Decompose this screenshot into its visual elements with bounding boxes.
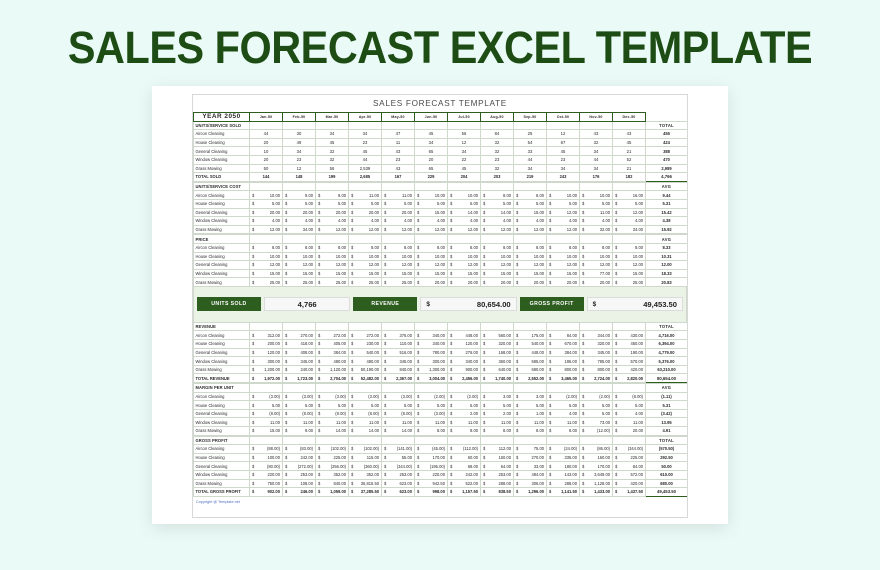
data-cell: $4.00 — [580, 217, 613, 226]
data-cell: $384.00 — [547, 348, 580, 357]
section-filler — [580, 384, 613, 393]
data-cell: $10.00 — [415, 252, 448, 261]
data-cell: 34 — [415, 138, 448, 147]
totals-cell: $2,367.00 — [382, 374, 415, 383]
data-cell: $8.00 — [481, 243, 514, 252]
section-filler — [283, 384, 316, 393]
data-cell: $300.00 — [415, 357, 448, 366]
data-cell: $11.00 — [547, 418, 580, 427]
data-cell: $12.00 — [613, 261, 646, 270]
data-cell: $344.00 — [580, 331, 613, 340]
data-cell: 43 — [382, 147, 415, 156]
data-cell: $5.00 — [514, 199, 547, 208]
data-cell: 44 — [514, 155, 547, 164]
row-label: General Cleaning — [194, 348, 250, 357]
section-filler — [448, 436, 481, 445]
data-cell: 47 — [382, 130, 415, 139]
data-cell: $11.00 — [382, 191, 415, 200]
totals-cell: $1,437.50 — [613, 488, 646, 497]
month-header-3: Apr-50 — [349, 113, 382, 122]
data-cell: $15.00 — [514, 208, 547, 217]
data-cell: $75.00 — [514, 445, 547, 454]
data-cell: $540.00 — [514, 340, 547, 349]
data-cell: $20.00 — [415, 278, 448, 287]
data-cell: $8.00 — [547, 243, 580, 252]
data-cell: $108.00 — [283, 479, 316, 488]
data-cell: $4.00 — [349, 217, 382, 226]
totals-cell: $2,724.00 — [580, 374, 613, 383]
section-filler — [415, 384, 448, 393]
data-cell: $4.00 — [250, 217, 283, 226]
data-cell: $(2.00) — [415, 392, 448, 401]
data-cell: 44 — [580, 155, 613, 164]
section-filler — [547, 322, 580, 331]
row-label: General Cleaning — [194, 208, 250, 217]
data-cell: $3,649.00 — [580, 470, 613, 479]
data-cell: $12.00 — [481, 225, 514, 234]
data-cell: $8.00 — [613, 243, 646, 252]
row-label: House Cleaning — [194, 453, 250, 462]
section-filler — [448, 121, 481, 130]
section-filler — [382, 121, 415, 130]
section-filler — [580, 235, 613, 244]
data-cell: $5.00 — [250, 401, 283, 410]
data-cell: $230.00 — [349, 340, 382, 349]
data-cell: 32 — [481, 138, 514, 147]
data-cell: $11.00 — [316, 418, 349, 427]
section-filler — [382, 322, 415, 331]
page-title: SALES FORECAST EXCEL TEMPLATE — [35, 22, 845, 74]
data-cell: $12.00 — [547, 208, 580, 217]
month-header-5: Jun-50 — [415, 113, 448, 122]
data-cell: $(112.00) — [448, 445, 481, 454]
data-cell: $5.00 — [580, 409, 613, 418]
data-cell: $(272.00) — [283, 462, 316, 471]
row-label: Aircon Cleaning — [194, 191, 250, 200]
totals-cell: $1,296.00 — [514, 488, 547, 497]
section-filler — [316, 436, 349, 445]
month-header-10: Nov-50 — [580, 113, 613, 122]
table-row: Aircon Cleaning$(3.00)$(3.00)$(3.00)$(3.… — [194, 392, 688, 401]
data-cell: $11.00 — [481, 418, 514, 427]
data-cell: $20.00 — [448, 278, 481, 287]
data-cell: 44 — [349, 155, 382, 164]
data-cell: $352.00 — [316, 470, 349, 479]
currency-symbol: $ — [426, 301, 430, 308]
data-cell: $12.00 — [580, 261, 613, 270]
section-title: PRICE — [194, 235, 250, 244]
section-header-row: MARGIN PER UNITAVG — [194, 384, 688, 393]
section-filler — [580, 436, 613, 445]
data-cell: 45 — [547, 147, 580, 156]
data-cell: $14.00 — [382, 427, 415, 436]
currency-symbol: $ — [593, 301, 597, 308]
row-total: 13.95 — [646, 418, 688, 427]
data-cell: 33 — [514, 147, 547, 156]
data-cell: $340.00 — [415, 331, 448, 340]
data-cell: $15.00 — [415, 269, 448, 278]
section-filler — [316, 235, 349, 244]
template-preview-card: SALES FORECAST TEMPLATE YEAR 2050Jan-50F… — [152, 86, 728, 524]
data-cell: $(2.00) — [547, 392, 580, 401]
data-cell: $253.00 — [382, 470, 415, 479]
data-cell: $20.00 — [481, 278, 514, 287]
section-filler — [613, 235, 646, 244]
data-cell: $4.00 — [316, 217, 349, 226]
section-filler — [415, 121, 448, 130]
data-cell: $10.00 — [382, 252, 415, 261]
data-cell: $14.00 — [448, 208, 481, 217]
data-cell: $11.00 — [580, 208, 613, 217]
section-filler — [283, 182, 316, 191]
row-label: Window Cleaning — [194, 269, 250, 278]
row-total: 455 — [646, 130, 688, 139]
row-label: Aircon Cleaning — [194, 331, 250, 340]
data-cell: $60.00 — [448, 453, 481, 462]
data-cell: 34 — [547, 164, 580, 173]
row-label: Grass Mowing — [194, 164, 250, 173]
data-cell: $220.00 — [415, 470, 448, 479]
totals-cell: $52,482.00 — [349, 374, 382, 383]
data-cell: $572.00 — [613, 470, 646, 479]
row-total: 388 — [646, 147, 688, 156]
section-filler — [250, 182, 283, 191]
units-sold-chip: UNITS SOLD — [197, 297, 261, 311]
data-cell: $408.00 — [283, 348, 316, 357]
row-total: 20.83 — [646, 278, 688, 287]
data-cell: $12.00 — [250, 261, 283, 270]
sheet-table: MARGIN PER UNITAVGAircon Cleaning$(3.00)… — [193, 383, 688, 436]
data-cell: $12.00 — [415, 261, 448, 270]
data-cell: $10.00 — [448, 191, 481, 200]
data-cell: $10.00 — [316, 252, 349, 261]
data-cell: $12.00 — [382, 261, 415, 270]
data-cell: $225.00 — [613, 453, 646, 462]
section-title: GROSS PROFIT — [194, 436, 250, 445]
section-filler — [613, 322, 646, 331]
data-cell: $5.00 — [316, 199, 349, 208]
data-cell: $320.00 — [580, 340, 613, 349]
section-right-header: AVG — [646, 182, 688, 191]
section-filler — [514, 121, 547, 130]
data-cell: $143.00 — [547, 470, 580, 479]
totals-cell: $37,285.50 — [349, 488, 382, 497]
data-cell: $8.00 — [481, 427, 514, 436]
data-cell: $8.00 — [514, 427, 547, 436]
data-cell: $220.00 — [250, 470, 283, 479]
data-cell: $418.00 — [283, 340, 316, 349]
data-cell: $36,815.50 — [349, 479, 382, 488]
data-cell: $276.00 — [448, 348, 481, 357]
data-cell: $10.00 — [250, 191, 283, 200]
data-cell: 10 — [250, 147, 283, 156]
data-cell: 84 — [481, 130, 514, 139]
data-cell: $11.00 — [250, 418, 283, 427]
data-cell: $20.00 — [316, 208, 349, 217]
row-total: 470 — [646, 155, 688, 164]
data-cell: $345.00 — [580, 348, 613, 357]
revenue-value: $80,654.00 — [420, 297, 516, 311]
data-cell: $376.00 — [382, 331, 415, 340]
data-cell: $942.50 — [415, 479, 448, 488]
data-cell: $340.00 — [415, 340, 448, 349]
revenue-chip: REVENUE — [353, 297, 417, 311]
section-right-header: TOTAL — [646, 322, 688, 331]
table-row: Window Cleaning$15.00$15.00$15.00$15.00$… — [194, 269, 688, 278]
data-cell: $5.00 — [283, 401, 316, 410]
data-cell: $(102.00) — [349, 445, 382, 454]
data-cell: $750.00 — [250, 479, 283, 488]
data-cell: $(12.00) — [580, 427, 613, 436]
sheet-table: YEAR 2050Jan-50Feb-50Mar-50Apr-50May-50J… — [193, 112, 688, 182]
grand-total: 80,654.00 — [646, 374, 688, 383]
data-cell: $8.00 — [349, 243, 382, 252]
data-cell: $10.00 — [580, 191, 613, 200]
data-cell: 34 — [580, 147, 613, 156]
totals-cell: $1,157.50 — [448, 488, 481, 497]
totals-cell: 148 — [283, 173, 316, 182]
data-cell: $5.00 — [448, 199, 481, 208]
section-header-row: UNITS/SERVICE COSTAVG — [194, 182, 688, 191]
copyright-footer: Copyright @ Template.net — [193, 497, 687, 504]
section-filler — [382, 436, 415, 445]
data-cell: $15.00 — [613, 269, 646, 278]
data-cell: $15.00 — [283, 269, 316, 278]
data-cell: $77.00 — [580, 269, 613, 278]
data-cell: $4.00 — [415, 217, 448, 226]
sheet-title: SALES FORECAST TEMPLATE — [193, 95, 687, 112]
data-cell: $5.00 — [580, 401, 613, 410]
data-cell: $25.00 — [283, 278, 316, 287]
data-cell: $10.00 — [547, 252, 580, 261]
data-cell: $12.00 — [547, 261, 580, 270]
data-cell: $(83.00) — [283, 445, 316, 454]
data-cell: $5.00 — [613, 401, 646, 410]
data-cell: 67 — [547, 138, 580, 147]
table-row: Window Cleaning$220.00$253.00$352.00$352… — [194, 470, 688, 479]
table-row: Grass Mowing$25.00$25.00$25.00$25.00$25.… — [194, 278, 688, 287]
data-cell: $4.00 — [613, 409, 646, 418]
row-label: General Cleaning — [194, 261, 250, 270]
section-filler — [349, 436, 382, 445]
section-filler — [481, 235, 514, 244]
section-title: UNITS/SERVICE SOLD — [194, 121, 250, 130]
data-cell: 20 — [250, 138, 283, 147]
data-cell: $(8.00) — [382, 409, 415, 418]
data-cell: $50,190.00 — [349, 365, 382, 374]
data-cell: $(3.00) — [382, 392, 415, 401]
data-cell: $170.00 — [580, 462, 613, 471]
data-cell: $10.00 — [547, 191, 580, 200]
row-total: 2,989 — [646, 164, 688, 173]
data-cell: $(2.00) — [580, 392, 613, 401]
gross-profit-value: $49,453.50 — [587, 297, 683, 311]
totals-cell: $623.00 — [382, 488, 415, 497]
data-cell: $540.00 — [349, 348, 382, 357]
table-row: General Cleaning$(80.00)$(272.00)$(256.0… — [194, 462, 688, 471]
data-cell: $10.00 — [415, 191, 448, 200]
data-cell: $640.00 — [481, 365, 514, 374]
row-total: 9.44 — [646, 191, 688, 200]
data-cell: $25.00 — [250, 278, 283, 287]
data-cell: $335.00 — [547, 453, 580, 462]
section-filler — [613, 121, 646, 130]
data-cell: $120.00 — [250, 348, 283, 357]
section-filler — [481, 384, 514, 393]
row-label: Grass Mowing — [194, 479, 250, 488]
totals-label: TOTAL GROSS PROFIT — [194, 488, 250, 497]
grand-total: 4,766 — [646, 173, 688, 182]
data-cell: 45 — [349, 147, 382, 156]
section-filler — [316, 384, 349, 393]
data-cell: $785.00 — [580, 357, 613, 366]
header-spacer — [646, 113, 688, 122]
data-cell: $12.00 — [250, 225, 283, 234]
data-cell: $405.00 — [316, 340, 349, 349]
table-row: General Cleaning103432454365343233453421… — [194, 147, 688, 156]
data-cell: $12.00 — [349, 225, 382, 234]
data-cell: $5.00 — [580, 199, 613, 208]
totals-cell: $3,004.00 — [415, 374, 448, 383]
data-cell: $8.00 — [415, 427, 448, 436]
data-cell: $12.00 — [448, 225, 481, 234]
data-cell: $12.00 — [613, 208, 646, 217]
table-row: Window Cleaning$4.00$4.00$4.00$4.00$4.00… — [194, 217, 688, 226]
data-cell: $4.00 — [514, 217, 547, 226]
section-filler — [613, 436, 646, 445]
row-total: 5.31 — [646, 199, 688, 208]
totals-cell: 167 — [382, 173, 415, 182]
data-cell: $5.00 — [613, 199, 646, 208]
data-cell: $8.00 — [580, 243, 613, 252]
section-filler — [250, 235, 283, 244]
table-row: House Cleaning$10.00$10.00$10.00$10.00$1… — [194, 252, 688, 261]
totals-cell: $1,141.50 — [547, 488, 580, 497]
data-cell: $345.00 — [283, 357, 316, 366]
data-cell: 12 — [448, 138, 481, 147]
data-cell: 21 — [613, 164, 646, 173]
data-cell: 34 — [316, 130, 349, 139]
table-row: Window Cleaning$300.00$345.00$480.00$480… — [194, 357, 688, 366]
row-total: 12.00 — [646, 261, 688, 270]
totals-cell: $1,740.00 — [481, 374, 514, 383]
data-cell: $10.00 — [349, 252, 382, 261]
data-cell: $800.00 — [580, 365, 613, 374]
data-cell: $168.00 — [481, 348, 514, 357]
data-cell: $(3.00) — [250, 392, 283, 401]
data-cell: $595.00 — [514, 357, 547, 366]
data-cell: $25.00 — [316, 278, 349, 287]
data-cell: $(45.00) — [415, 445, 448, 454]
year-label: YEAR 2050 — [194, 113, 250, 122]
data-cell: $8.00 — [283, 243, 316, 252]
data-cell: 45 — [415, 130, 448, 139]
data-cell: $11.00 — [349, 418, 382, 427]
data-cell: $12.00 — [349, 261, 382, 270]
data-cell: $10.00 — [481, 252, 514, 261]
data-cell: 23 — [547, 155, 580, 164]
row-label: Window Cleaning — [194, 155, 250, 164]
data-cell: $5.00 — [481, 199, 514, 208]
data-cell: $11.00 — [382, 418, 415, 427]
data-cell: $(2.00) — [448, 392, 481, 401]
data-cell: $12.00 — [415, 225, 448, 234]
row-label: Aircon Cleaning — [194, 445, 250, 454]
data-cell: $20.00 — [580, 278, 613, 287]
data-cell: $14.00 — [349, 427, 382, 436]
data-cell: 34 — [349, 130, 382, 139]
row-total: (3.42) — [646, 409, 688, 418]
data-cell: $2.00 — [481, 409, 514, 418]
data-cell: $448.00 — [514, 348, 547, 357]
data-cell: $(195.00) — [415, 462, 448, 471]
data-cell: $5.00 — [382, 401, 415, 410]
totals-cell: $2,820.00 — [613, 374, 646, 383]
row-label: Aircon Cleaning — [194, 130, 250, 139]
section-filler — [448, 384, 481, 393]
row-label: House Cleaning — [194, 340, 250, 349]
data-cell: $(86.00) — [580, 445, 613, 454]
row-label: Grass Mowing — [194, 225, 250, 234]
data-cell: $420.00 — [613, 479, 646, 488]
month-header-6: Jul-50 — [448, 113, 481, 122]
data-cell: $8.00 — [481, 191, 514, 200]
data-cell: $(256.00) — [316, 462, 349, 471]
data-cell: $12.00 — [514, 225, 547, 234]
data-cell: $345.00 — [382, 357, 415, 366]
row-total: 4,716.00 — [646, 331, 688, 340]
data-cell: $272.00 — [349, 331, 382, 340]
totals-cell: $902.00 — [250, 488, 283, 497]
data-cell: 32 — [481, 147, 514, 156]
totals-cell: 199 — [316, 173, 349, 182]
data-cell: $4.00 — [547, 409, 580, 418]
data-cell: $1.00 — [514, 409, 547, 418]
month-header-11: Dec-50 — [613, 113, 646, 122]
section-filler — [613, 384, 646, 393]
data-cell: $15.00 — [547, 269, 580, 278]
data-cell: 23 — [382, 155, 415, 164]
data-cell: $73.00 — [580, 418, 613, 427]
section-filler — [283, 322, 316, 331]
data-cell: $8.00 — [448, 427, 481, 436]
section-filler — [316, 182, 349, 191]
data-cell: $16.00 — [613, 191, 646, 200]
data-cell: 56 — [448, 130, 481, 139]
data-cell: $(344.00) — [613, 445, 646, 454]
section-filler — [283, 121, 316, 130]
data-cell: $4.00 — [448, 217, 481, 226]
month-header-1: Feb-50 — [283, 113, 316, 122]
row-total: 10.31 — [646, 252, 688, 261]
sheet-table: PRICEAVGAircon Cleaning$8.00$8.00$8.00$8… — [193, 234, 688, 287]
row-total: 50.00 — [646, 462, 688, 471]
row-total: 8.33 — [646, 243, 688, 252]
data-cell: $450.00 — [613, 340, 646, 349]
data-cell: $4.00 — [283, 217, 316, 226]
data-cell: $20.00 — [283, 208, 316, 217]
data-cell: 34 — [283, 147, 316, 156]
data-cell: $3.00 — [481, 392, 514, 401]
section-right-header: TOTAL — [646, 121, 688, 130]
data-cell: 43 — [580, 130, 613, 139]
sheet-table: UNITS/SERVICE COSTAVGAircon Cleaning$10.… — [193, 182, 688, 235]
data-cell: $670.00 — [547, 340, 580, 349]
totals-cell: $2,456.00 — [448, 374, 481, 383]
row-total: 610.00 — [646, 470, 688, 479]
row-total: 5,376.00 — [646, 357, 688, 366]
data-cell: 25 — [514, 130, 547, 139]
